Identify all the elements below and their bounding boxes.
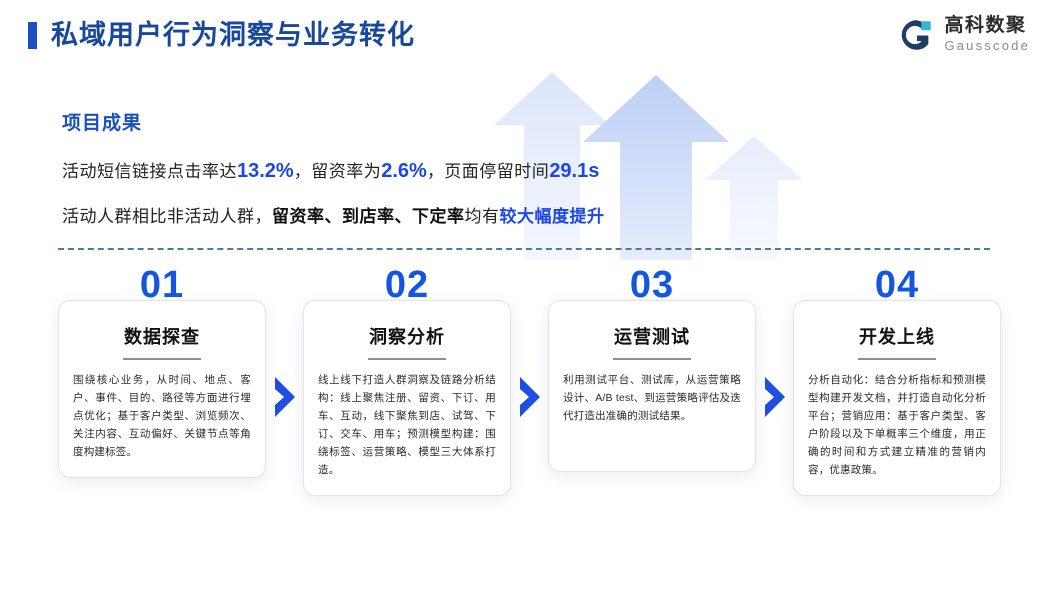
step-body: 利用测试平台、测试库，从运营策略设计、A/B test、到运营策略评估及迭代打造… (563, 371, 741, 425)
results-metric-ctr: 13.2% (237, 160, 294, 182)
results-line1-text3: ，页面停留时间 (427, 162, 550, 181)
step-card[interactable]: 数据探查 围绕核心业务，从时间、地点、客户、事件、目的、路径等方面进行埋点优化；… (58, 300, 266, 478)
step-card[interactable]: 运营测试 利用测试平台、测试库，从运营策略设计、A/B test、到运营策略评估… (548, 300, 756, 472)
slide-root: { "header": { "title": "私域用户行为洞察与业务转化", … (0, 0, 1048, 591)
gausscode-logo-icon (897, 16, 935, 54)
results-line1-text2: ，留资率为 (294, 162, 382, 181)
step-number: 03 (548, 266, 756, 304)
slide-header: 私域用户行为洞察与业务转化 高科数聚 Gausscode (0, 0, 1048, 82)
chevron-right-icon (511, 272, 548, 522)
step-card[interactable]: 开发上线 分析自动化：结合分析指标和预测模型构建开发文档，并打造自动化分析平台；… (793, 300, 1001, 496)
results-section: 项目成果 活动短信链接点击率达13.2%，留资率为2.6%，页面停留时间29.1… (62, 108, 762, 246)
step-title: 开发上线 (808, 323, 986, 349)
page-title-wrap: 私域用户行为洞察与业务转化 (28, 22, 415, 49)
results-line1-text1: 活动短信链接点击率达 (62, 162, 237, 181)
process-flow: 01 数据探查 围绕核心业务，从时间、地点、客户、事件、目的、路径等方面进行埋点… (58, 272, 1002, 522)
results-metric-leadrate: 2.6% (381, 160, 427, 182)
step-title: 数据探查 (73, 323, 251, 349)
brand-logo: 高科数聚 Gausscode (897, 16, 1030, 54)
step-title-rule (368, 358, 446, 360)
step-title-rule (123, 358, 201, 360)
results-line-2: 活动人群相比非活动人群，留资率、到店率、下定率均有较大幅度提升 (62, 202, 762, 227)
step-body: 围绕核心业务，从时间、地点、客户、事件、目的、路径等方面进行埋点优化；基于客户类… (73, 371, 251, 461)
chevron-right-icon (266, 272, 303, 522)
flow-step-03[interactable]: 03 运营测试 利用测试平台、测试库，从运营策略设计、A/B test、到运营策… (548, 272, 756, 472)
title-accent-bar (28, 22, 37, 49)
logo-en-name: Gausscode (944, 38, 1030, 54)
step-body: 线上线下打造人群洞察及链路分析结构：线上聚焦注册、留资、下订、用车、互动，线下聚… (318, 371, 496, 479)
chevron-right-icon (756, 272, 793, 522)
results-line2-bold: 留资率、到店率、下定率 (272, 207, 465, 226)
logo-text: 高科数聚 Gausscode (944, 16, 1030, 53)
results-line2-text2: 均有 (465, 207, 500, 226)
step-title-rule (858, 358, 936, 360)
step-title: 洞察分析 (318, 323, 496, 349)
results-heading: 项目成果 (62, 108, 762, 135)
results-line-1: 活动短信链接点击率达13.2%，留资率为2.6%，页面停留时间29.1s (62, 157, 762, 183)
page-title: 私域用户行为洞察与业务转化 (51, 22, 415, 49)
step-title: 运营测试 (563, 323, 741, 349)
results-line2-text1: 活动人群相比非活动人群， (62, 207, 272, 226)
step-number: 02 (303, 266, 511, 304)
step-number: 01 (58, 266, 266, 304)
flow-step-01[interactable]: 01 数据探查 围绕核心业务，从时间、地点、客户、事件、目的、路径等方面进行埋点… (58, 272, 266, 478)
step-title-rule (613, 358, 691, 360)
flow-step-04[interactable]: 04 开发上线 分析自动化：结合分析指标和预测模型构建开发文档，并打造自动化分析… (793, 272, 1001, 496)
step-card[interactable]: 洞察分析 线上线下打造人群洞察及链路分析结构：线上聚焦注册、留资、下订、用车、互… (303, 300, 511, 496)
logo-cn-name: 高科数聚 (944, 16, 1030, 37)
results-line2-highlight: 较大幅度提升 (500, 207, 605, 226)
step-number: 04 (793, 266, 1001, 304)
flow-step-02[interactable]: 02 洞察分析 线上线下打造人群洞察及链路分析结构：线上聚焦注册、留资、下订、用… (303, 272, 511, 496)
step-body: 分析自动化：结合分析指标和预测模型构建开发文档，并打造自动化分析平台；营销应用：… (808, 371, 986, 479)
results-metric-dwelltime: 29.1s (549, 160, 599, 182)
section-divider (58, 248, 990, 250)
